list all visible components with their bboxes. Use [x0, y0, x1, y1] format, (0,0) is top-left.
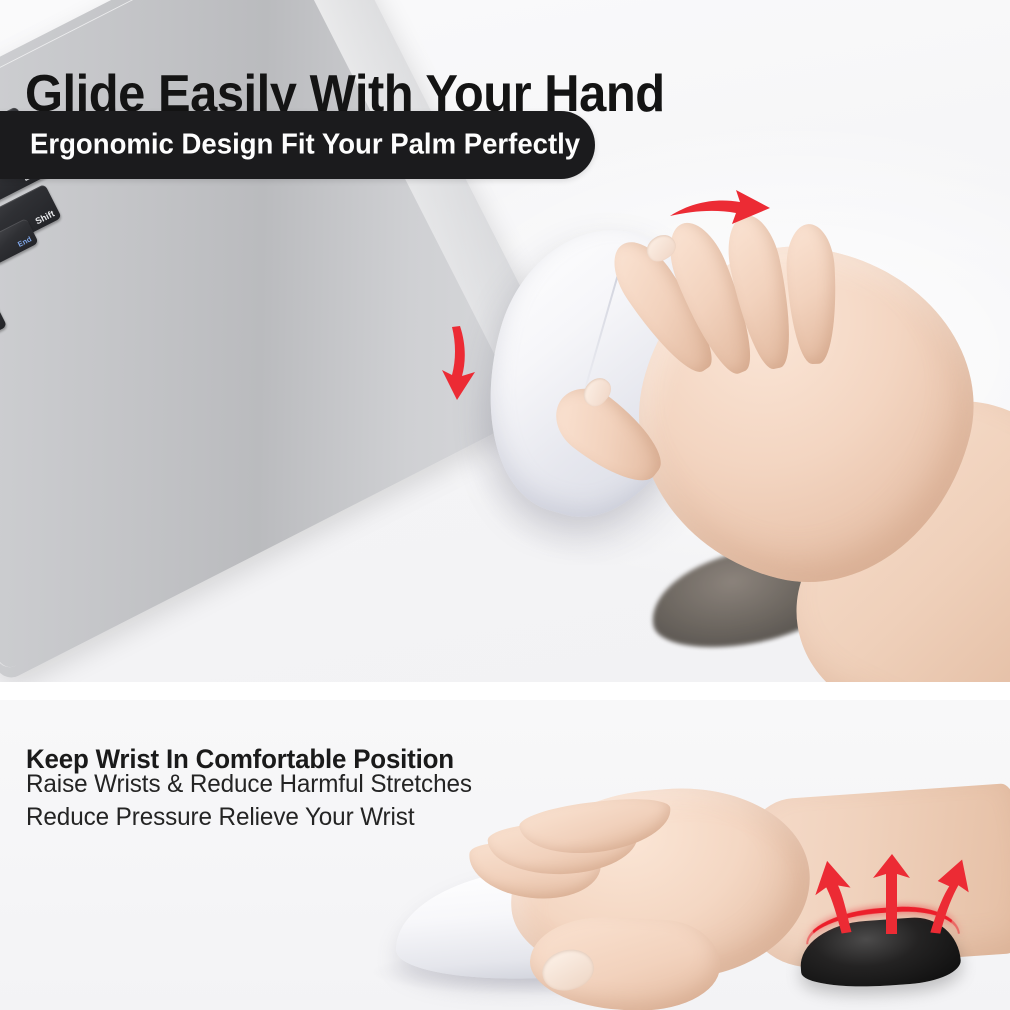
- section-divider: [0, 682, 1010, 700]
- laptop-illustration: Backspace Del Enter Shift + ? PgUp PgDn …: [0, 178, 450, 682]
- glide-down-arrow-icon: [430, 322, 492, 404]
- subtitle-badge-label: Ergonomic Design Fit Your Palm Perfectly: [30, 129, 580, 162]
- product-infographic: Backspace Del Enter Shift + ? PgUp PgDn …: [0, 0, 1010, 1010]
- key-pgdn: PgDn: [0, 301, 7, 347]
- section-body-line1: Raise Wrists & Reduce Harmful Stretches: [26, 768, 472, 801]
- glide-right-arrow-icon: [666, 182, 776, 240]
- wrist-lift-arrows-icon: [800, 852, 980, 938]
- subtitle-badge: Ergonomic Design Fit Your Palm Perfectly: [0, 111, 595, 179]
- hand-top: [520, 180, 1010, 682]
- top-feature-panel: Backspace Del Enter Shift + ? PgUp PgDn …: [0, 0, 1010, 682]
- section-body-line2: Reduce Pressure Relieve Your Wrist: [26, 801, 472, 834]
- section-body: Raise Wrists & Reduce Harmful Stretches …: [26, 768, 486, 834]
